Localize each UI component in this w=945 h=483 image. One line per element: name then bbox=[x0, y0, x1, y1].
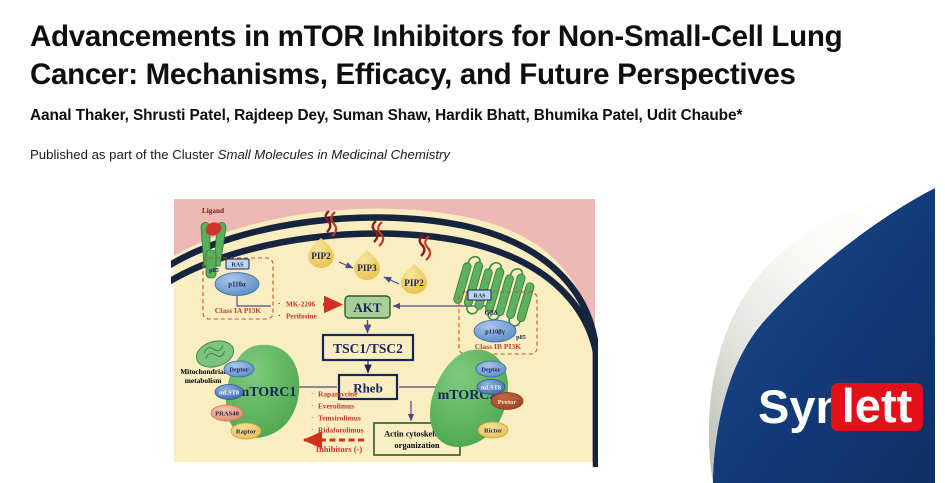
bullet-2: · bbox=[311, 402, 313, 410]
bullet-1: · bbox=[311, 390, 313, 398]
label-deptor-1: Deptor bbox=[229, 367, 248, 374]
page-title-line-1: Advancements in mTOR Inhibitors for Non-… bbox=[30, 18, 910, 56]
label-p85-right: p85 bbox=[516, 334, 526, 341]
bullet-mk2206-dot: · bbox=[278, 300, 280, 308]
logo-text-lett: lett bbox=[842, 379, 913, 432]
label-akt: AKT bbox=[353, 300, 382, 315]
label-perifosine: Perifosine bbox=[286, 313, 317, 321]
label-raptor: Raptor bbox=[236, 429, 256, 436]
label-rictor: Rictor bbox=[484, 428, 502, 435]
label-ras-left: RAS bbox=[231, 263, 244, 269]
label-inhibitor-2: Everolimus bbox=[318, 402, 354, 411]
label-mitochondrial-2: metabolism bbox=[185, 376, 222, 385]
label-class-ia: Class IA PI3K bbox=[215, 306, 262, 315]
page-root: Advancements in mTOR Inhibitors for Non-… bbox=[0, 0, 945, 483]
label-ligand: Ligand bbox=[202, 207, 224, 215]
cluster-note: Published as part of the Cluster Small M… bbox=[30, 147, 910, 162]
label-mitochondrial-1: Mitochondrial bbox=[180, 367, 226, 376]
label-mtorc1: mTORC1 bbox=[238, 385, 297, 400]
pathway-svg: Ligand Class IA PI3K RAS bbox=[171, 196, 598, 467]
author-list: Aanal Thaker, Shrusti Patel, Rajdeep Dey… bbox=[30, 107, 910, 125]
label-pip2-a: PIP2 bbox=[311, 251, 331, 261]
synlett-logo: Syn lett bbox=[705, 180, 945, 483]
label-mk2206: MK-2206 bbox=[286, 301, 316, 309]
header-block: Advancements in mTOR Inhibitors for Non-… bbox=[30, 18, 910, 162]
label-pip2-b: PIP2 bbox=[404, 278, 424, 288]
bullet-perifosine-dot: · bbox=[278, 312, 280, 320]
cluster-name: Small Molecules in Medicinal Chemistry bbox=[218, 147, 450, 162]
mtor-pathway-diagram: Ligand Class IA PI3K RAS bbox=[171, 196, 598, 467]
cluster-note-prefix: Published as part of the Cluster bbox=[30, 147, 218, 162]
page-title-line-2: Cancer: Mechanisms, Efficacy, and Future… bbox=[30, 56, 910, 94]
label-mlst8-2: mLST8 bbox=[481, 385, 501, 392]
label-protor: Protor bbox=[498, 399, 517, 406]
figure-container: Ligand Class IA PI3K RAS bbox=[171, 196, 598, 467]
akt-node: AKT bbox=[345, 296, 390, 318]
label-pip3: PIP3 bbox=[357, 263, 377, 273]
label-inhibitors: Inhibitors (-) bbox=[316, 445, 363, 454]
tsc-node: TSC1/TSC2 bbox=[323, 335, 413, 360]
label-mlst8-1: mLST8 bbox=[219, 390, 239, 397]
label-pras40: PRAS40 bbox=[215, 411, 240, 418]
bullet-4: · bbox=[311, 426, 313, 434]
synlett-logo-svg: Syn lett bbox=[705, 180, 945, 483]
label-p110a: p110α bbox=[228, 282, 246, 289]
label-inhibitor-4: Ridaforolimus bbox=[318, 426, 364, 435]
bullet-3: · bbox=[311, 414, 313, 422]
label-tsc: TSC1/TSC2 bbox=[333, 341, 403, 356]
label-class-ib: Class IB PI3K bbox=[475, 342, 522, 351]
label-p85-left: p85 bbox=[209, 267, 219, 274]
label-deptor-2: Deptor bbox=[481, 367, 500, 374]
logo-wordmark: Syn lett bbox=[758, 379, 923, 433]
label-inhibitor-1: Rapamycine bbox=[318, 390, 358, 399]
label-actin-2: organization bbox=[394, 441, 439, 450]
label-inhibitor-3: Temsirolimus bbox=[318, 414, 361, 423]
page-title: Advancements in mTOR Inhibitors for Non-… bbox=[30, 18, 910, 94]
label-p110by: p110βγ bbox=[485, 329, 505, 336]
label-gbg: Gβδ bbox=[484, 309, 497, 317]
label-ras-right: RAS bbox=[473, 294, 486, 300]
label-rheb: Rheb bbox=[353, 381, 383, 396]
